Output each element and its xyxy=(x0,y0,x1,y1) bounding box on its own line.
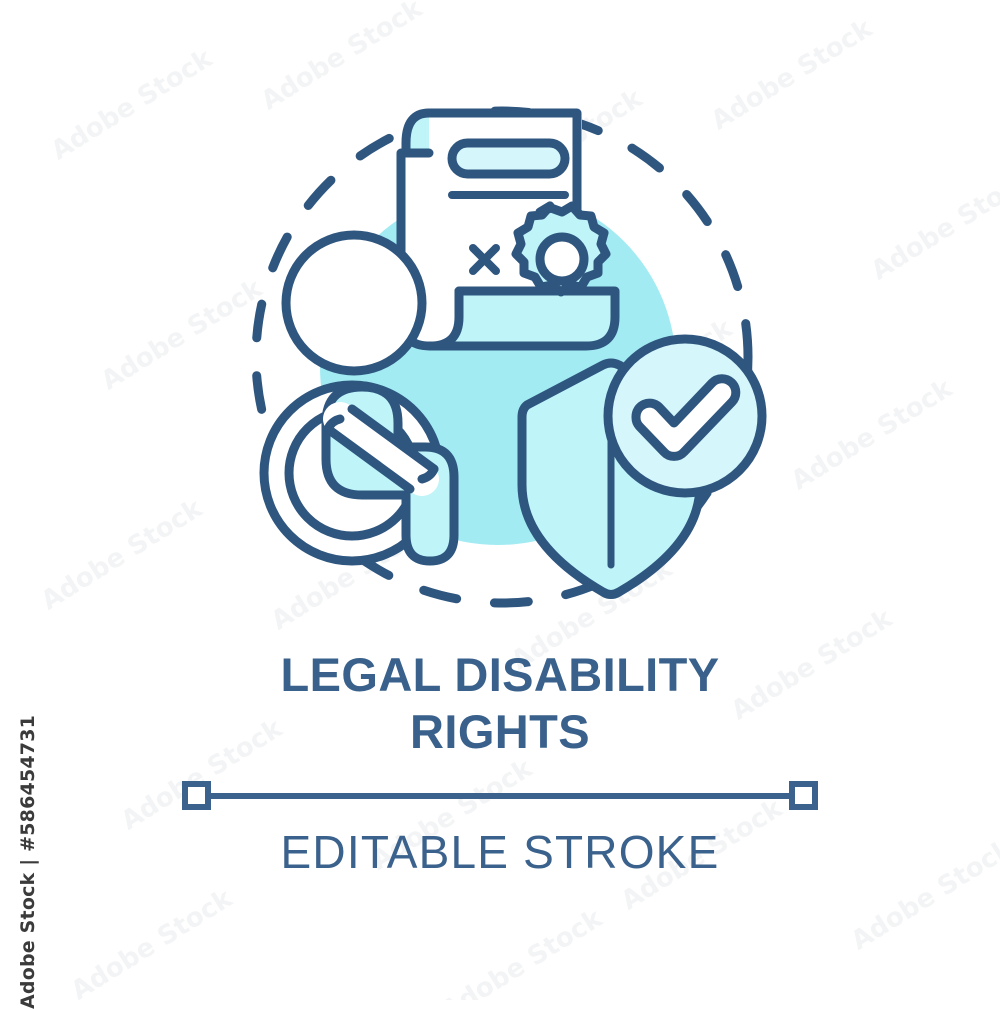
watermark-text: Adobe Stock xyxy=(866,164,1000,287)
watermark-text: Adobe Stock xyxy=(66,884,238,1000)
stock-credit-label: Adobe Stock | #586454731 xyxy=(17,249,39,1009)
credit-rail: Adobe Stock | #586454731 xyxy=(0,0,56,1000)
divider-handle-left xyxy=(185,784,208,807)
scroll-document xyxy=(401,109,615,346)
page-title-line-1: LEGAL DISABILITY xyxy=(150,646,850,703)
seal-center-hole xyxy=(540,237,584,281)
watermark-text: Adobe Stock xyxy=(846,834,1000,957)
watermark-text: Adobe Stock xyxy=(36,494,208,617)
watermark-text: Adobe Stock xyxy=(786,374,958,497)
divider-handle-right xyxy=(792,784,815,807)
page-title-line-2: RIGHTS xyxy=(150,703,850,760)
concept-illustration xyxy=(230,95,775,640)
wax-seal xyxy=(516,206,606,292)
page-title: LEGAL DISABILITY RIGHTS xyxy=(150,646,850,760)
watermark-text: Adobe Stock xyxy=(436,904,608,1000)
editable-stroke-label: EDITABLE STROKE xyxy=(150,824,850,880)
wheelchair-head xyxy=(286,235,422,371)
watermark-text: Adobe Stock xyxy=(46,44,218,167)
stroke-divider xyxy=(180,781,820,811)
document-title-bar xyxy=(452,143,565,174)
poster-canvas: Adobe Stock Adobe Stock Adobe Stock Adob… xyxy=(0,0,1000,1000)
check-badge xyxy=(608,339,762,493)
